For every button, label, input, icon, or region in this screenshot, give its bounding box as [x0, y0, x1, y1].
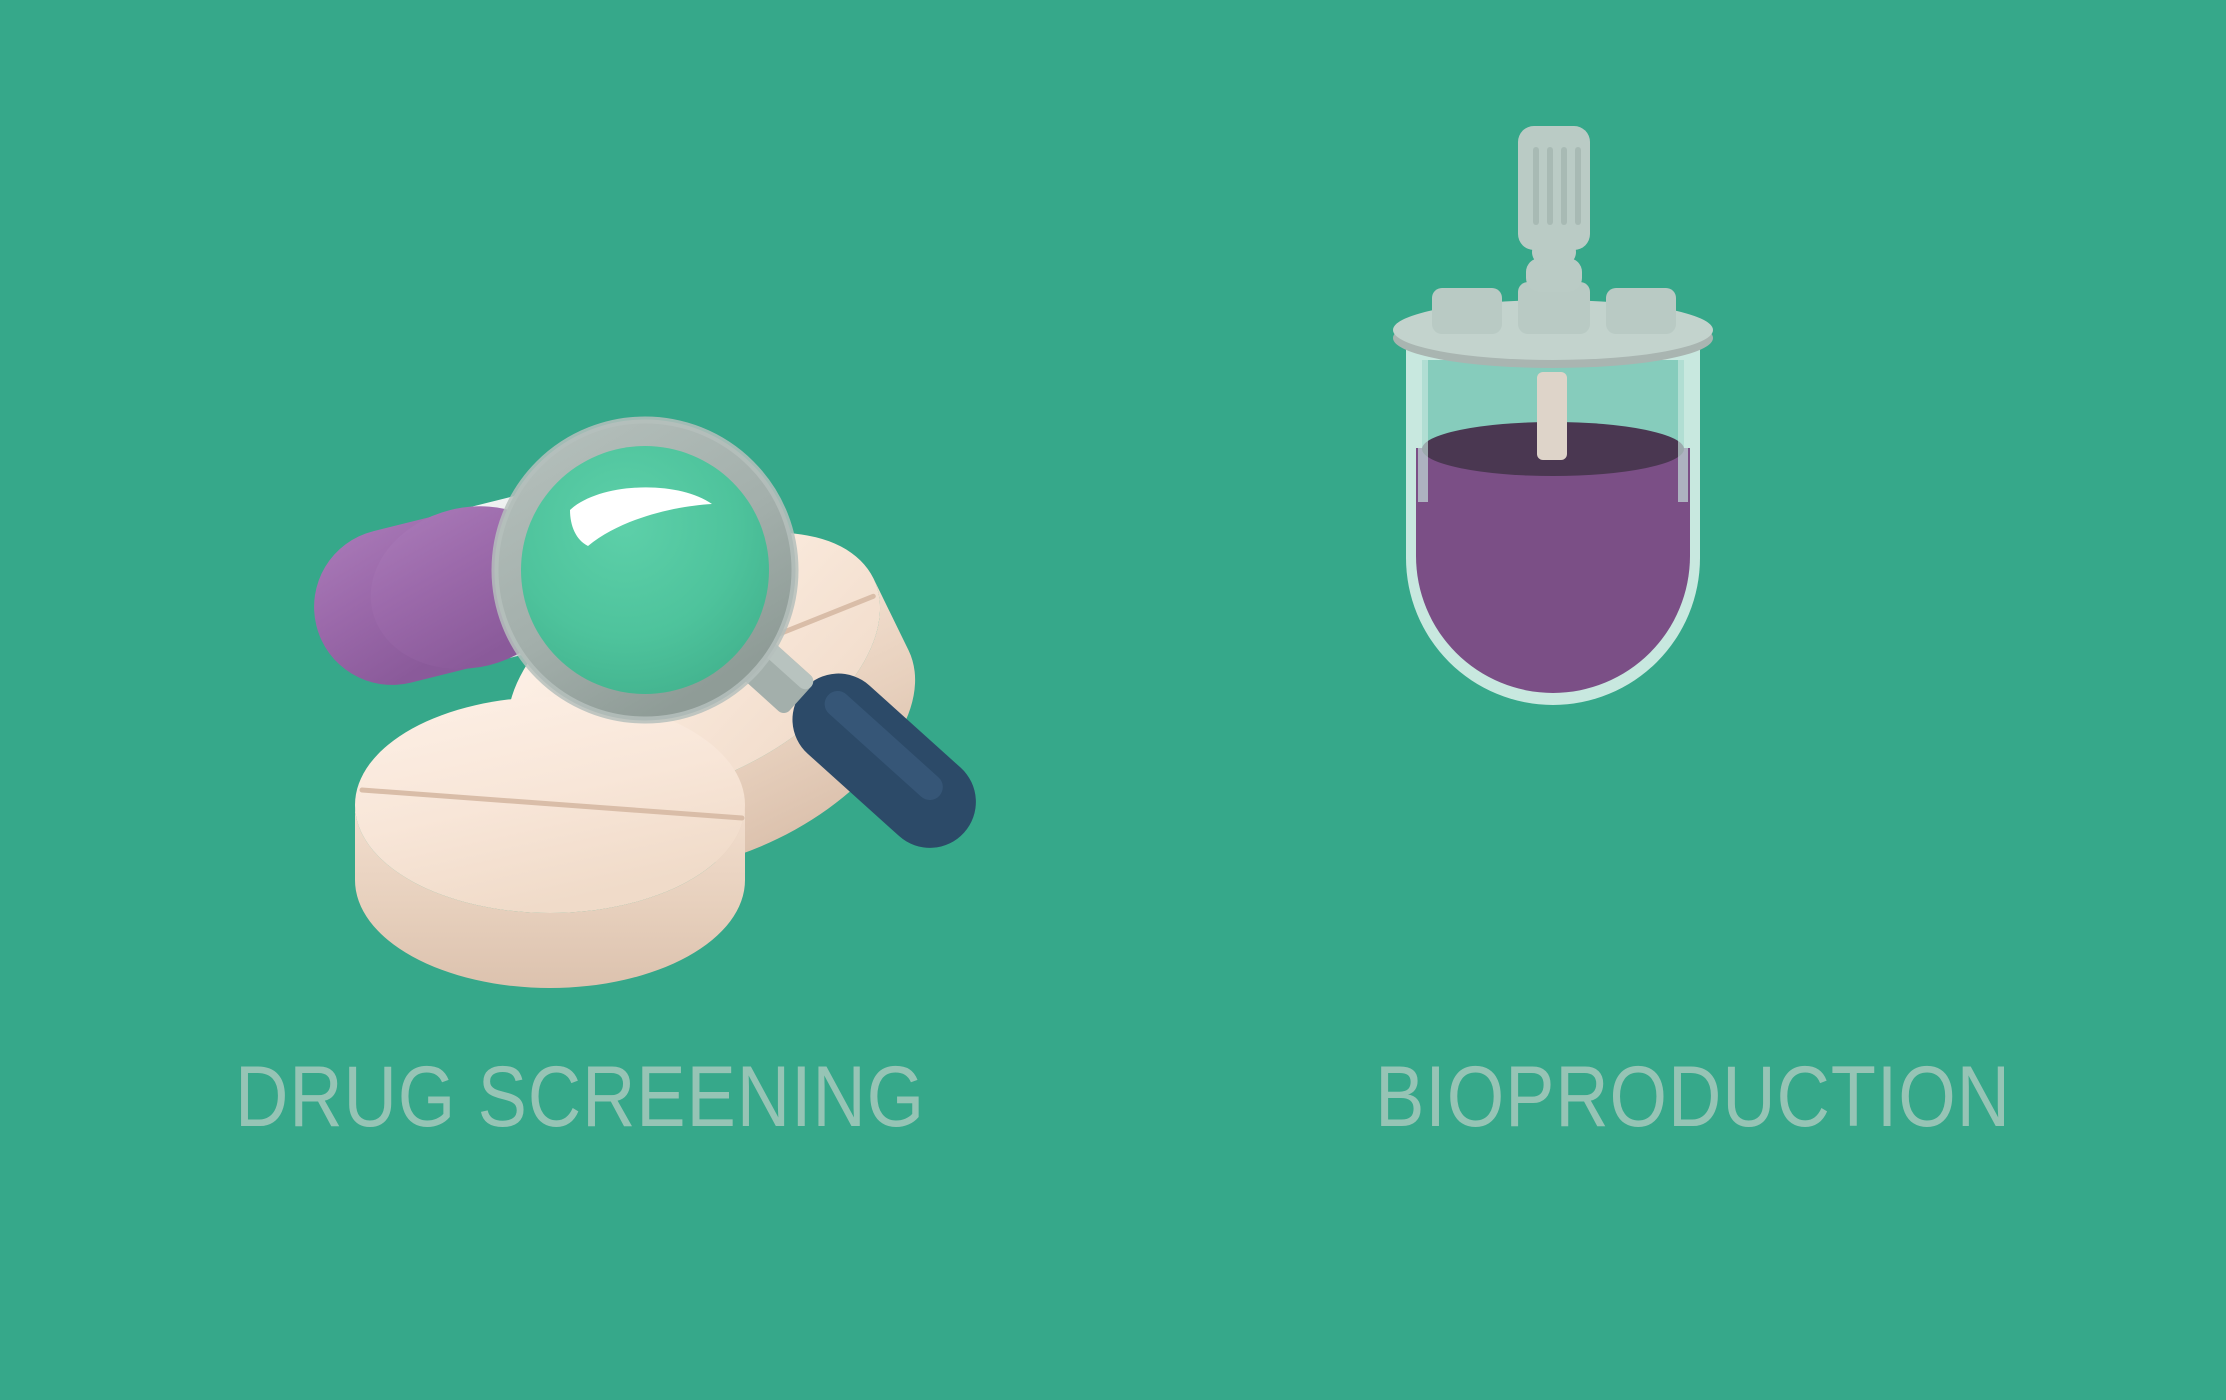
stirrer-shaft — [1537, 372, 1567, 460]
magnifier-lens — [521, 446, 769, 694]
lid-port-left — [1432, 288, 1502, 334]
bioproduction-illustration — [1160, 0, 2226, 1040]
caption-bioproduction: BIOPRODUCTION — [1235, 1048, 2152, 1147]
panel-bioproduction: BIOPRODUCTION — [1160, 0, 2226, 1400]
glass-highlight-right — [1678, 352, 1688, 502]
glass-highlight-left — [1418, 352, 1428, 502]
lid-port-right — [1606, 288, 1676, 334]
tablet-flat — [355, 697, 745, 988]
drug-screening-illustration — [0, 0, 1160, 1040]
caption-drug-screening: DRUG SCREENING — [81, 1048, 1079, 1147]
illustration-canvas: DRUG SCREENING — [0, 0, 2226, 1400]
panel-drug-screening: DRUG SCREENING — [0, 0, 1160, 1400]
